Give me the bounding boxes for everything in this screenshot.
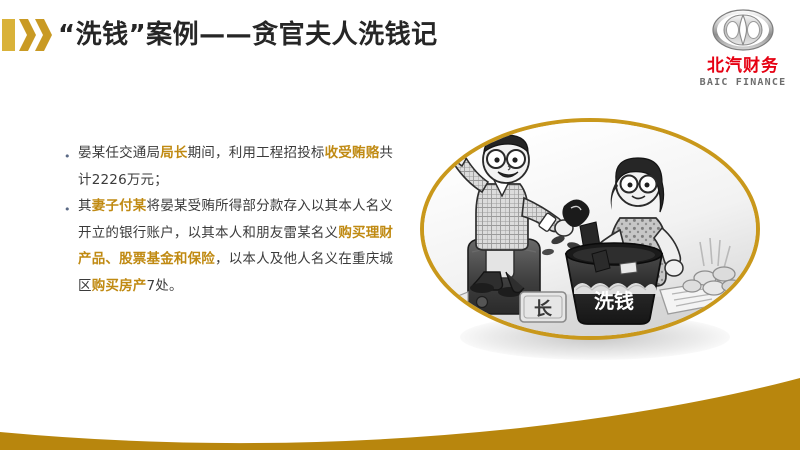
slide-canvas: “洗钱”案例——贪官夫人洗钱记 <box>0 0 800 450</box>
text-segment-highlight: 妻子付某 <box>92 198 147 214</box>
text-segment-highlight: 收受贿赂 <box>325 145 380 161</box>
brand-logo: 北汽财务 BAIC FINANCE <box>690 8 796 98</box>
money-laundering-cartoon-icon: 洗钱 长 <box>424 122 756 336</box>
list-item: • 其妻子付某将晏某受贿所得部分款存入以其本人名义开立的银行账户，以其本人和朋友… <box>64 193 394 299</box>
plaque-caption: 长 <box>534 299 553 320</box>
list-item: • 晏某任交通局局长期间，利用工程招投标收受贿赂共计2226万元； <box>64 140 394 193</box>
text-segment: 晏某任交通局 <box>78 145 160 161</box>
logo-en-name: BAIC FINANCE <box>690 77 796 89</box>
bullet-text: 其妻子付某将晏某受贿所得部分款存入以其本人名义开立的银行账户，以其本人和朋友雷某… <box>78 193 394 299</box>
tub-caption: 洗钱 <box>594 289 634 313</box>
text-segment-highlight: 局长 <box>160 145 187 161</box>
bullet-list: • 晏某任交通局局长期间，利用工程招投标收受贿赂共计2226万元； • 其妻子付… <box>64 140 394 299</box>
text-segment: 7处。 <box>147 278 183 294</box>
page-title: “洗钱”案例——贪官夫人洗钱记 <box>58 17 438 53</box>
bullet-marker: • <box>64 193 78 215</box>
bullet-text: 晏某任交通局局长期间，利用工程招投标收受贿赂共计2226万元； <box>78 140 394 193</box>
double-chevron-right-icon <box>2 17 54 53</box>
text-segment-highlight: 购买房产 <box>92 278 147 294</box>
bullet-marker: • <box>64 140 78 162</box>
logo-cn-name: 北汽财务 <box>690 57 796 76</box>
slide-header: “洗钱”案例——贪官夫人洗钱记 <box>0 0 800 105</box>
text-segment: 其 <box>78 198 92 214</box>
illustration-oval: 洗钱 长 <box>420 118 760 340</box>
oval-frame: 洗钱 长 <box>420 118 760 340</box>
text-segment: 期间，利用工程招投标 <box>188 145 325 161</box>
baic-emblem-icon <box>711 8 775 52</box>
bottom-gold-swoosh <box>0 370 800 450</box>
